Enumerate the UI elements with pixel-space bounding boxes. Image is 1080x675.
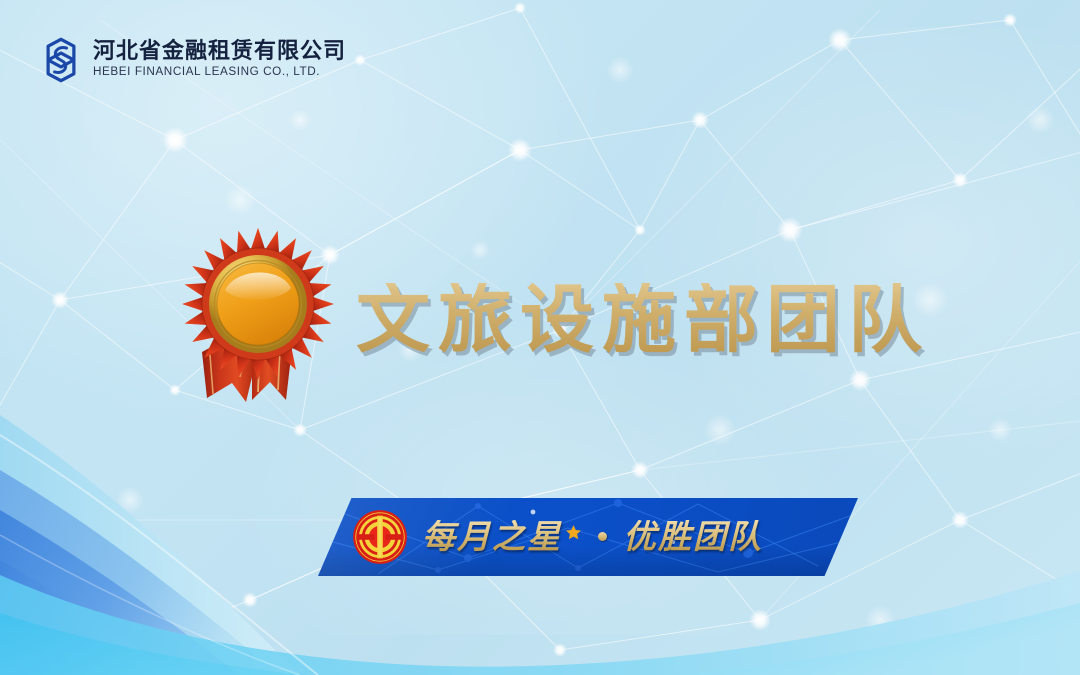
hexagon-interlock-logo-icon	[38, 36, 84, 84]
gold-star-icon	[565, 524, 582, 541]
award-banner: 每月之星 优胜团队	[318, 498, 858, 576]
company-name-cn: 河北省金融租赁有限公司	[93, 41, 346, 63]
banner-label-left: 每月之星	[422, 520, 562, 553]
banner-label-group: 每月之星 优胜团队	[422, 520, 763, 553]
banner-content: 每月之星 优胜团队	[318, 498, 858, 576]
company-logo: 河北省金融租赁有限公司 HEBEI FINANCIAL LEASING CO.,…	[38, 36, 346, 84]
award-slide: 河北省金融租赁有限公司 HEBEI FINANCIAL LEASING CO.,…	[0, 0, 1080, 675]
page-title: 文旅设施部团队	[356, 283, 930, 357]
award-rosette-ribbon-icon	[180, 222, 336, 408]
banner-label-right: 优胜团队	[623, 520, 763, 553]
trade-union-emblem-icon	[352, 509, 408, 565]
company-name-en: HEBEI FINANCIAL LEASING CO., LTD.	[93, 67, 351, 79]
company-name-block: 河北省金融租赁有限公司 HEBEI FINANCIAL LEASING CO.,…	[93, 41, 346, 79]
gold-dot-separator-icon	[598, 532, 607, 541]
